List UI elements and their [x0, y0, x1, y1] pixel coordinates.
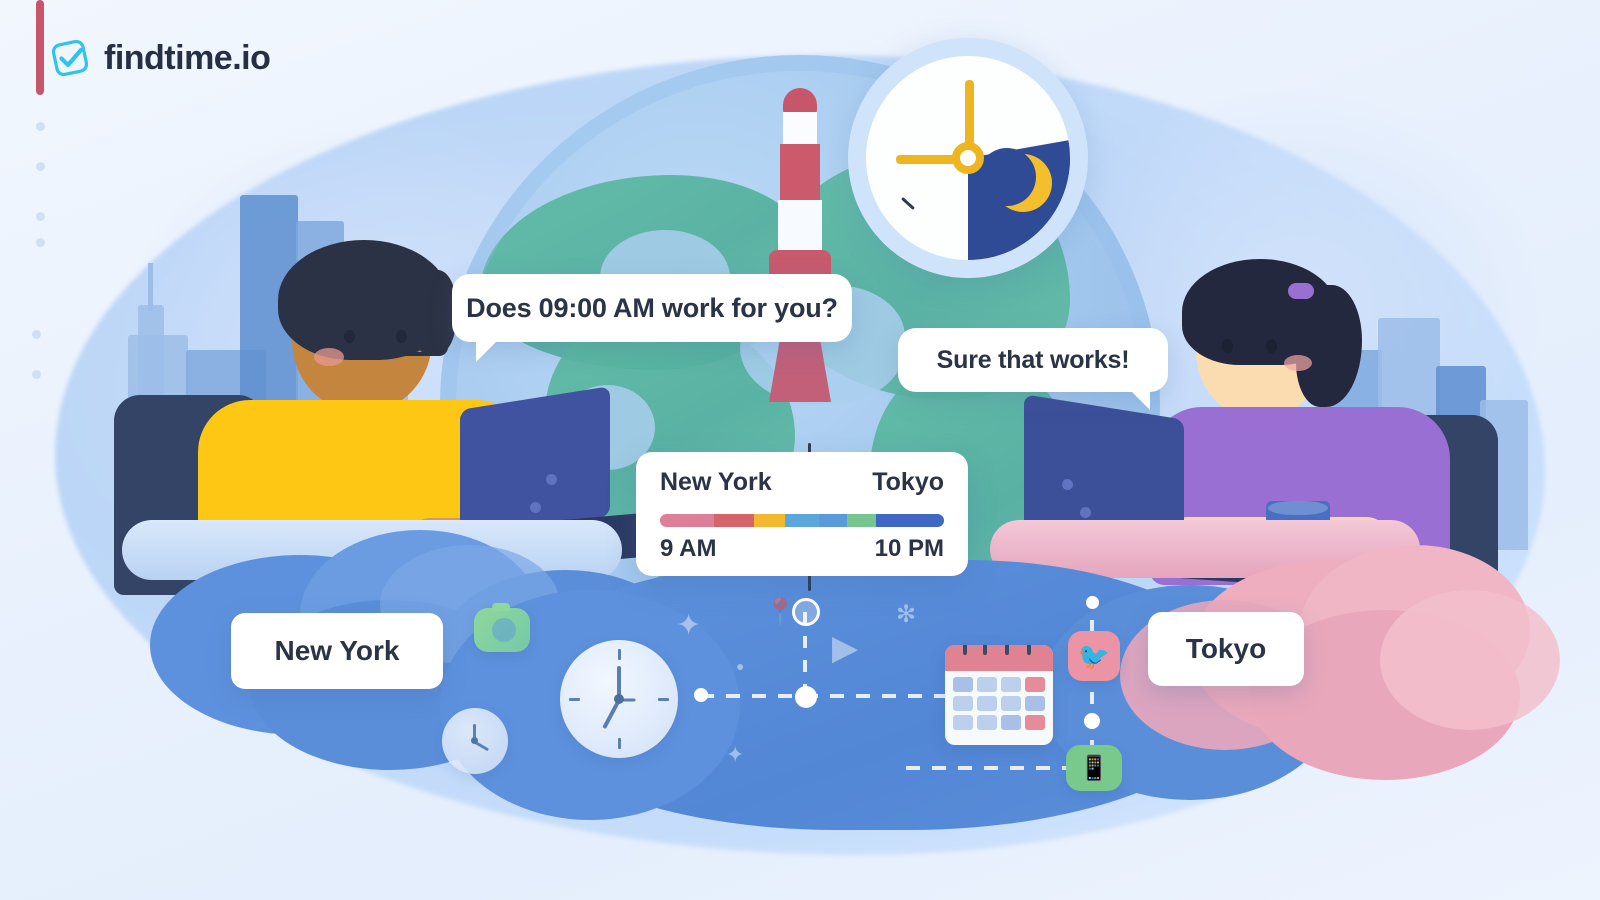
speech-bubble-tokyo-text: Sure that works!: [937, 346, 1130, 375]
speech-bubble-tokyo[interactable]: Sure that works!: [898, 328, 1168, 392]
analog-clock-icon-small: [442, 708, 508, 774]
timeline-segment-2: [754, 514, 785, 527]
city-label-tokyo[interactable]: Tokyo: [1148, 612, 1304, 686]
card-right-city: Tokyo: [872, 468, 944, 497]
card-right-time: 10 PM: [875, 535, 944, 563]
speech-bubble-new-york[interactable]: Does 09:00 AM work for you?: [452, 274, 852, 342]
timezone-comparison-card[interactable]: New York Tokyo 9 AM 10 PM: [636, 452, 968, 576]
bubble-tail: [476, 336, 502, 362]
crescent-moon-icon: [994, 154, 1052, 212]
illustration-canvas: ✦ ✻ 📍 ▶ ✦ ●: [0, 0, 1600, 900]
camera-icon: [474, 608, 530, 652]
speech-bubble-new-york-text: Does 09:00 AM work for you?: [466, 293, 838, 324]
card-city-row: New York Tokyo: [660, 468, 944, 497]
timeline-segment-6: [876, 514, 944, 527]
city-label-new-york-text: New York: [274, 635, 399, 667]
card-time-row: 9 AM 10 PM: [660, 535, 944, 563]
calendar-icon: [945, 645, 1053, 745]
send-icon: ▶: [832, 628, 858, 668]
sparkle-icon-3: ✦: [726, 742, 744, 768]
timeline-segment-0: [660, 514, 714, 527]
phone-icon: 📱: [1066, 745, 1122, 791]
sparkle-icon: ✦: [676, 608, 701, 643]
timeline-segment-1: [714, 514, 754, 527]
brand-logo[interactable]: findtime.io: [48, 36, 270, 80]
city-label-new-york[interactable]: New York: [231, 613, 443, 689]
card-left-time: 9 AM: [660, 535, 716, 563]
bird-icon: 🐦: [1068, 631, 1120, 681]
dot-decor: ●: [736, 658, 744, 674]
timeline-segment-3: [785, 514, 819, 527]
bubble-tail: [1126, 386, 1150, 410]
timeline-segment-4: [819, 514, 847, 527]
ponytail: [1296, 285, 1362, 407]
analog-clock-icon-large: [560, 640, 678, 758]
timeline-node: [792, 598, 820, 626]
timezone-timeline-bar[interactable]: [660, 514, 944, 527]
day-night-clock-icon: [848, 38, 1088, 278]
timeline-connector-horizontal: [700, 694, 950, 698]
brand-wordmark: findtime.io: [104, 39, 270, 78]
card-left-city: New York: [660, 468, 772, 497]
city-label-tokyo-text: Tokyo: [1186, 633, 1266, 665]
timeline-segment-5: [847, 514, 875, 527]
sparkle-icon-2: ✻: [896, 600, 916, 629]
check-diamond-icon: [48, 36, 92, 80]
